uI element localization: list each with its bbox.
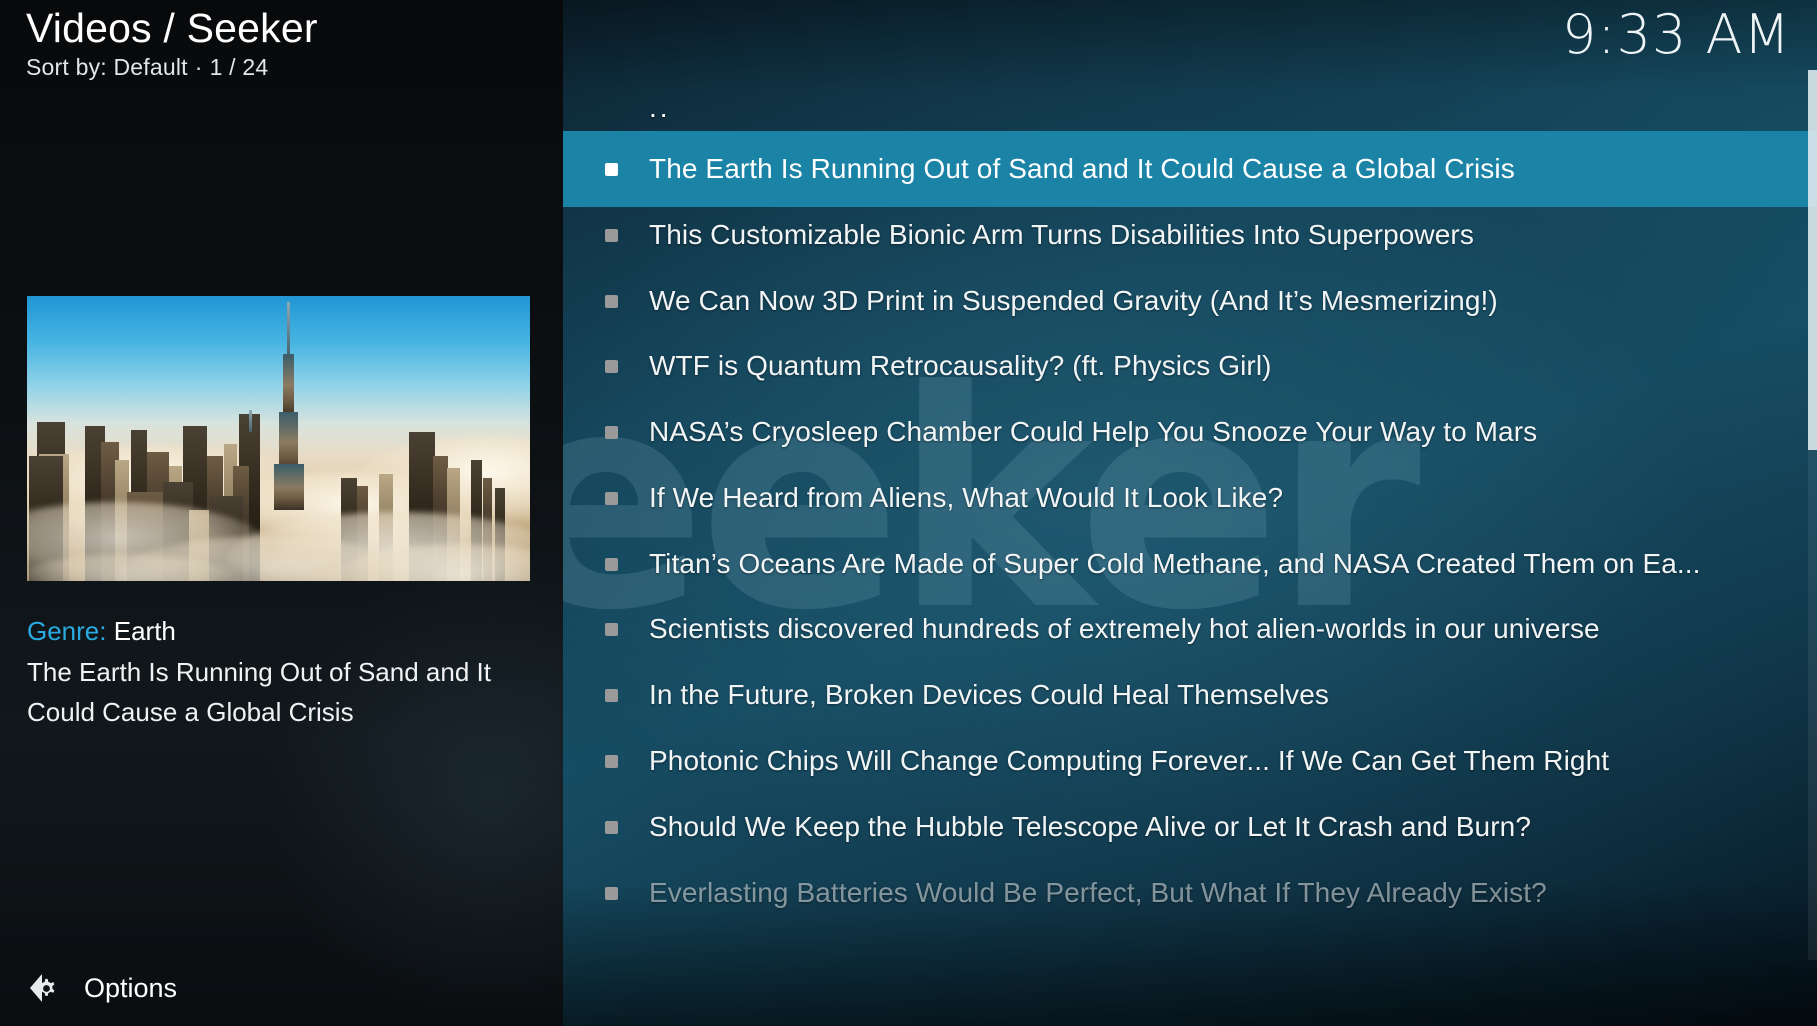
bullet-icon [605, 163, 618, 176]
list-item-label: Everlasting Batteries Would Be Perfect, … [649, 874, 1547, 912]
header-left: Videos / Seeker Sort by: Default·1 / 24 [26, 4, 318, 82]
item-position: 1 / 24 [210, 54, 269, 80]
bullet-icon [605, 426, 618, 439]
list-item-label: The Earth Is Running Out of Sand and It … [649, 150, 1515, 188]
chevron-left-gear-icon [26, 968, 66, 1008]
page-title: Videos / Seeker [26, 4, 318, 52]
bullet-icon [605, 360, 618, 373]
list-item-label: We Can Now 3D Print in Suspended Gravity… [649, 282, 1498, 320]
genre-value: Earth [114, 616, 176, 646]
clock: 9:33 AM [1562, 2, 1791, 68]
video-list[interactable]: .. The Earth Is Running Out of Sand and … [563, 0, 1817, 1026]
separator-dot: · [188, 54, 210, 80]
genre-row: Genre: Earth [27, 613, 532, 649]
sort-label[interactable]: Sort by: Default [26, 54, 188, 80]
list-item-label: Scientists discovered hundreds of extrem… [649, 610, 1600, 648]
video-plot: The Earth Is Running Out of Sand and It … [27, 652, 517, 732]
list-item-label: In the Future, Broken Devices Could Heal… [649, 676, 1329, 714]
list-item-label: Photonic Chips Will Change Computing For… [649, 742, 1609, 780]
tower-spire [287, 302, 290, 358]
bullet-icon [605, 558, 618, 571]
list-item-10[interactable]: Should We Keep the Hubble Telescope Aliv… [563, 789, 1817, 865]
list-item-label: Should We Keep the Hubble Telescope Aliv… [649, 808, 1531, 846]
list-item-label: Titan’s Oceans Are Made of Super Cold Me… [649, 545, 1701, 583]
list-item-5[interactable]: If We Heard from Aliens, What Would It L… [563, 460, 1817, 536]
list-item-1[interactable]: This Customizable Bionic Arm Turns Disab… [563, 197, 1817, 273]
list-item-label: WTF is Quantum Retrocausality? (ft. Phys… [649, 347, 1272, 385]
options-label: Options [84, 971, 177, 1005]
video-info: Genre: Earth The Earth Is Running Out of… [27, 613, 532, 732]
kodi-media-browser: eeker .. The Earth Is Running Out of San… [0, 0, 1817, 1026]
scrollbar-thumb[interactable] [1808, 70, 1817, 450]
list-item-label: This Customizable Bionic Arm Turns Disab… [649, 216, 1474, 254]
list-item-11[interactable]: Everlasting Batteries Would Be Perfect, … [563, 855, 1817, 931]
list-item-label: If We Heard from Aliens, What Would It L… [649, 479, 1283, 517]
bullet-icon [605, 295, 618, 308]
header-subtitle: Sort by: Default·1 / 24 [26, 52, 318, 82]
bullet-icon [605, 623, 618, 636]
list-item-0[interactable]: The Earth Is Running Out of Sand and It … [563, 131, 1817, 207]
list-item-label: NASA’s Cryosleep Chamber Could Help You … [649, 413, 1537, 451]
parent-bullet-icon [605, 102, 618, 115]
list-item-label: .. [649, 89, 671, 127]
list-scrollbar[interactable] [1808, 70, 1817, 960]
video-thumbnail [27, 296, 530, 581]
thumbnail-image [27, 296, 530, 581]
list-item-9[interactable]: Photonic Chips Will Change Computing For… [563, 723, 1817, 799]
list-item-8[interactable]: In the Future, Broken Devices Could Heal… [563, 657, 1817, 733]
list-item-7[interactable]: Scientists discovered hundreds of extrem… [563, 591, 1817, 667]
bullet-icon [605, 755, 618, 768]
genre-label: Genre: [27, 616, 107, 646]
sidebar-info-panel: Genre: Earth The Earth Is Running Out of… [0, 0, 563, 1026]
bullet-icon [605, 887, 618, 900]
options-button[interactable]: Options [12, 960, 191, 1016]
bullet-icon [605, 821, 618, 834]
bullet-icon [605, 229, 618, 242]
bullet-icon [605, 492, 618, 505]
list-item-4[interactable]: NASA’s Cryosleep Chamber Could Help You … [563, 394, 1817, 470]
list-item-3[interactable]: WTF is Quantum Retrocausality? (ft. Phys… [563, 328, 1817, 404]
bullet-icon [605, 689, 618, 702]
